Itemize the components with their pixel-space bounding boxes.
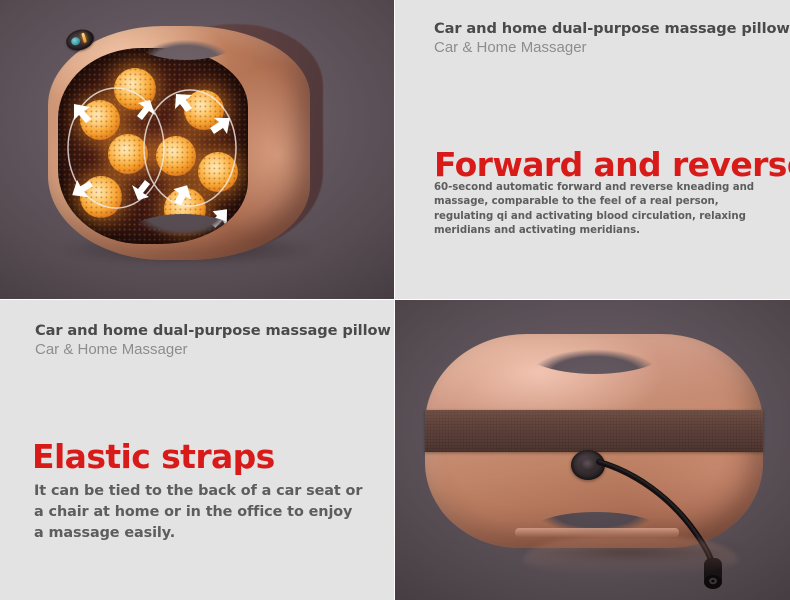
panel-heading: Car and home dual-purpose massage pillow	[434, 20, 790, 37]
pillow-bottom-notch	[118, 214, 248, 272]
panel-heading: Car and home dual-purpose massage pillow	[35, 322, 391, 339]
elastic-straps-text-panel: Car and home dual-purpose massage pillow…	[0, 300, 394, 600]
feature-title: Forward and reverse kneading and massage	[434, 145, 790, 184]
feature-body: 60-second automatic forward and reverse …	[434, 181, 770, 239]
forward-reverse-text-panel: Car and home dual-purpose massage pillow…	[395, 0, 790, 299]
product-reflection	[523, 536, 738, 576]
panel-subheading: Car & Home Massager	[434, 39, 587, 56]
feature-body: It can be tied to the back of a car seat…	[34, 481, 364, 544]
massager-front-stage	[0, 0, 394, 299]
control-indicator-icon	[70, 36, 81, 46]
panel-subheading: Car & Home Massager	[35, 341, 188, 358]
product-feature-sheet: Car and home dual-purpose massage pillow…	[0, 0, 790, 600]
rotation-arrows	[58, 48, 248, 244]
massager-back-photo-panel	[395, 300, 790, 600]
feature-title: Elastic straps	[32, 437, 275, 476]
massager-back-stage	[395, 300, 790, 600]
massager-front-photo-panel	[0, 0, 394, 299]
massage-mesh-face	[58, 48, 248, 244]
pillow-top-notch	[128, 8, 244, 60]
control-led-icon	[81, 33, 87, 43]
